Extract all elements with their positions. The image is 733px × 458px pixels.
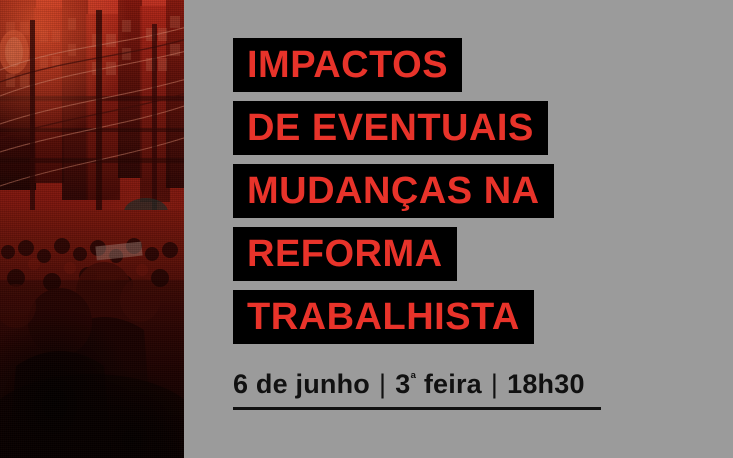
headline-line-4: REFORMA	[233, 227, 457, 281]
event-poster: IMPACTOS DE EVENTUAIS MUDANÇAS NA REFORM…	[0, 0, 733, 458]
crowded-street-protest-photo	[0, 0, 184, 458]
event-weekday-word: feira	[424, 369, 482, 399]
event-details: 6 de junho|3ª feira|18h30	[233, 366, 601, 410]
photo-grain-overlay	[0, 0, 184, 458]
headline-line-2: DE EVENTUAIS	[233, 101, 548, 155]
event-weekday-ordinal: ª	[410, 371, 416, 387]
event-details-underline	[233, 407, 601, 410]
headline-line-3: MUDANÇAS NA	[233, 164, 554, 218]
event-details-text: 6 de junho|3ª feira|18h30	[233, 366, 601, 402]
event-date: 6 de junho	[233, 369, 370, 399]
headline-line-5: TRABALHISTA	[233, 290, 534, 344]
event-weekday-number: 3	[395, 369, 410, 399]
headline-line-1: IMPACTOS	[233, 38, 462, 92]
headline-block: IMPACTOS DE EVENTUAIS MUDANÇAS NA REFORM…	[233, 38, 554, 344]
event-time: 18h30	[507, 369, 585, 399]
event-separator-1: |	[370, 366, 395, 402]
event-separator-2: |	[482, 366, 507, 402]
